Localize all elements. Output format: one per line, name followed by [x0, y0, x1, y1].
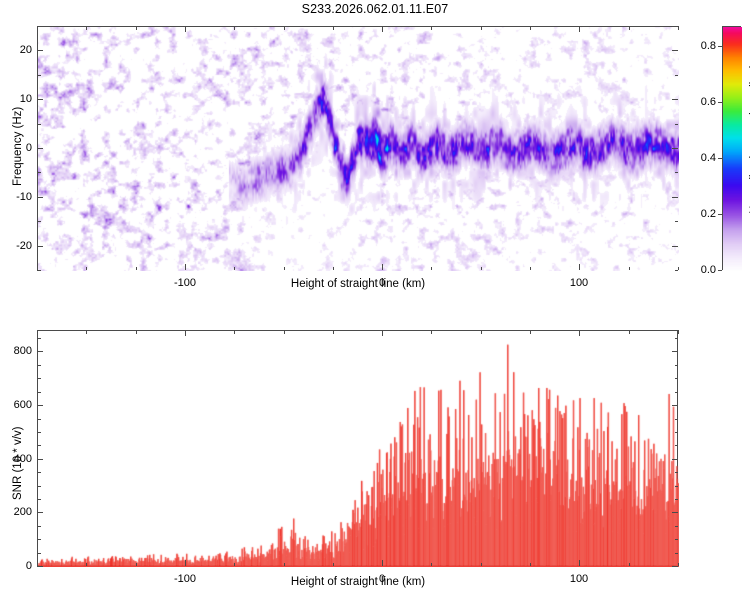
spectrogram-x-axis-label: Height of straight line (km) — [291, 278, 425, 290]
colorbar — [722, 26, 741, 270]
snr-x-axis-label: Height of straight line (km) — [291, 576, 425, 588]
colorbar-gradient — [723, 27, 742, 271]
spectrogram-image — [38, 27, 679, 271]
spectrogram-y-axis-label: Frequency (Hz) — [12, 107, 24, 186]
snr-y-axis-label: SNR (10 * v/v) — [12, 427, 24, 501]
snr-panel — [37, 330, 678, 566]
page-title: S233.2026.062.01.11.E07 — [0, 2, 750, 16]
spectrogram-panel — [37, 26, 678, 270]
figure-root: S233.2026.062.01.11.E07 -1000100-20-1001… — [0, 0, 750, 600]
snr-trace-plot — [38, 331, 679, 567]
